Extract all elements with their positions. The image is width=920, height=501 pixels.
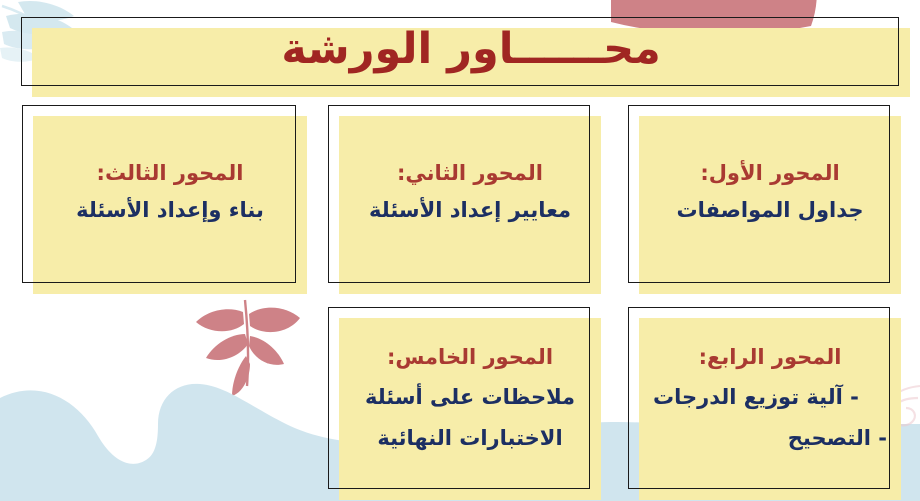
topic-card-1-line-1: جداول المواصفات xyxy=(677,198,864,223)
topic-card-3-content: المحور الثالث: بناء وإعداد الأسئلة xyxy=(33,105,307,283)
topic-card-4-line-1: - آلية توزيع الدرجات xyxy=(653,385,859,410)
topic-card-2-heading: المحور الثاني: xyxy=(397,161,543,185)
slide-canvas: محــــــاور الورشة المحور الأول: جداول ا… xyxy=(0,0,920,501)
topic-card-4-line-2: - التصحيح xyxy=(788,426,887,451)
topic-card-3-line-1: بناء وإعداد الأسئلة xyxy=(76,198,264,223)
topic-card-4-content: المحور الرابع: - آلية توزيع الدرجات - ال… xyxy=(639,307,901,489)
topic-card-5[interactable]: المحور الخامس: ملاحظات على أسئلة الاختبا… xyxy=(328,307,590,489)
slide-title-banner: محــــــاور الورشة xyxy=(21,17,899,86)
topic-card-1-content: المحور الأول: جداول المواصفات xyxy=(639,105,901,283)
topic-card-4-heading: المحور الرابع: xyxy=(699,345,842,369)
topic-card-5-line-1: ملاحظات على أسئلة xyxy=(365,385,575,410)
topic-card-4[interactable]: المحور الرابع: - آلية توزيع الدرجات - ال… xyxy=(628,307,890,489)
topic-card-2-line-1: معايير إعداد الأسئلة xyxy=(369,198,571,223)
title-banner-content: محــــــاور الورشة xyxy=(32,17,910,86)
topic-card-2-content: المحور الثاني: معايير إعداد الأسئلة xyxy=(339,105,601,283)
page-title: محــــــاور الورشة xyxy=(281,28,660,71)
topic-card-3[interactable]: المحور الثالث: بناء وإعداد الأسئلة xyxy=(22,105,296,283)
topic-card-1[interactable]: المحور الأول: جداول المواصفات xyxy=(628,105,890,283)
topic-card-1-heading: المحور الأول: xyxy=(700,161,839,185)
topic-card-2[interactable]: المحور الثاني: معايير إعداد الأسئلة xyxy=(328,105,590,283)
topic-card-3-heading: المحور الثالث: xyxy=(97,161,244,185)
topic-card-5-line-2: الاختبارات النهائية xyxy=(377,426,562,451)
leaf-sprig-icon xyxy=(196,300,300,396)
topic-card-5-heading: المحور الخامس: xyxy=(387,345,553,369)
topic-card-5-content: المحور الخامس: ملاحظات على أسئلة الاختبا… xyxy=(339,307,601,489)
